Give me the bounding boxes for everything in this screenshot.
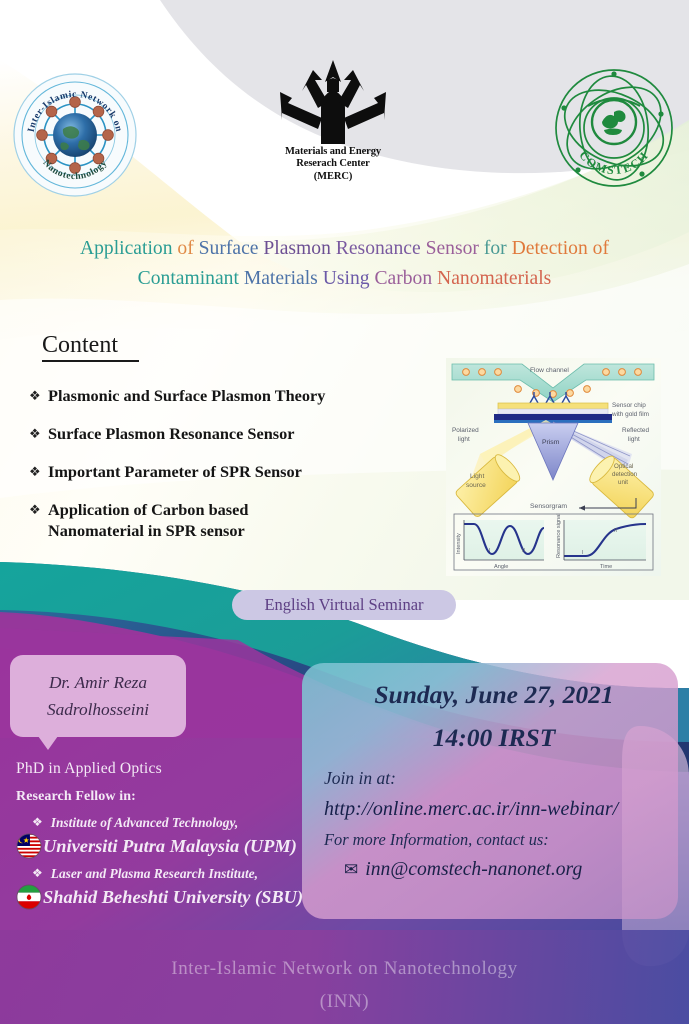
affiliation-institute: Laser and Plasma Research Institute, (51, 864, 258, 883)
seminar-poster: Inter-Islamic Network on Nanotechnology (0, 0, 689, 1024)
title-word: Plasmon (263, 238, 331, 259)
contact-email[interactable]: inn@comstech-nanonet.org (365, 856, 582, 884)
spr-label-light-source-2: source (466, 482, 486, 489)
speaker-name-line2: Sadrolhosseini (47, 696, 149, 723)
merc-caption-line2: Reserach Center (258, 158, 408, 170)
title-word: Contaminant (138, 268, 239, 289)
webinar-url[interactable]: http://online.merc.ac.ir/inn-webinar/ (324, 793, 664, 825)
spr-marker-2: II (522, 548, 525, 554)
speaker-name-line1: Dr. Amir Reza (49, 669, 147, 696)
affiliation-institute: Institute of Advanced Technology, (51, 813, 238, 832)
diamond-bullet-icon: ❖ (26, 385, 48, 407)
spr-axis-resonance: Resonance signal (556, 514, 562, 558)
spr-label-optical-1: Optical (614, 463, 633, 470)
merc-caption-line1: Materials and Energy (258, 146, 408, 158)
list-item-label: Important Parameter of SPR Sensor (48, 461, 302, 482)
list-item: ❖ Application of Carbon based Nanomateri… (26, 499, 446, 541)
seminar-type-badge: English Virtual Seminar (232, 590, 456, 620)
title-word: Carbon (374, 268, 432, 289)
title-word: Resonance (336, 238, 421, 259)
spr-axis-intensity: Intensity (456, 533, 462, 554)
spr-label-polarized-1: Polarized (452, 427, 479, 434)
spr-axis-time: Time (600, 564, 612, 570)
footer-line1: Inter-Islamic Network on Nanotechnology (0, 952, 689, 985)
title-word: Using (323, 268, 370, 289)
spr-diagram: Flow channel Sensor chip with gold film … (446, 358, 661, 576)
event-info-card: Sunday, June 27, 2021 14:00 IRST Join in… (302, 663, 678, 919)
contact-label: For more Information, contact us: (324, 825, 664, 855)
list-item: ❖ Plasmonic and Surface Plasmon Theory (26, 385, 446, 407)
speaker-degree: PhD in Applied Optics (16, 758, 316, 780)
title-word: of (593, 238, 609, 259)
speech-bubble-tail (38, 736, 58, 750)
speaker-credentials: PhD in Applied Optics Research Fellow in… (16, 758, 316, 910)
affiliation-item: ❖ Laser and Plasma Research Institute, S… (16, 864, 316, 910)
comstech-logo: COMSTECH (548, 62, 680, 194)
spr-label-flow-channel: Flow channel (530, 367, 569, 374)
list-item: ❖ Surface Plasmon Resonance Sensor (26, 423, 446, 445)
inn-logo: Inter-Islamic Network on Nanotechnology (13, 73, 137, 197)
title-word: Materials (244, 268, 318, 289)
join-label: Join in at: (324, 763, 664, 793)
page-title: Application of Surface Plasmon Resonance… (8, 234, 681, 294)
merc-logo: Materials and Energy Reserach Center (ME… (258, 58, 408, 198)
page-title-line1: Application of Surface Plasmon Resonance… (8, 234, 681, 264)
list-item-label: Surface Plasmon Resonance Sensor (48, 423, 294, 444)
footer: Inter-Islamic Network on Nanotechnology … (0, 952, 689, 1018)
content-list: ❖ Plasmonic and Surface Plasmon Theory ❖… (26, 385, 446, 557)
affiliation-org: Universiti Putra Malaysia (UPM) (43, 834, 297, 858)
event-time: 14:00 IRST (324, 717, 664, 759)
diamond-bullet-icon: ❖ (32, 813, 43, 832)
diamond-bullet-icon: ❖ (26, 423, 48, 445)
iran-flag-icon (16, 884, 42, 910)
spr-label-optical-2: detection (612, 471, 638, 478)
diamond-bullet-icon: ❖ (26, 499, 48, 521)
spr-label-sensor-chip-1: Sensor chip (612, 402, 646, 409)
footer-line2: (INN) (0, 985, 689, 1018)
title-word: for (484, 238, 507, 259)
title-word: Nanomaterials (437, 268, 551, 289)
spr-label-sensor-chip-2: with gold film (611, 411, 649, 418)
merc-mark-icon (258, 58, 408, 144)
merc-caption-line3: (MERC) (258, 171, 408, 183)
malaysia-flag-icon (16, 833, 42, 859)
event-date: Sunday, June 27, 2021 (324, 673, 664, 717)
affiliation-item: ❖ Institute of Advanced Technology, (16, 813, 316, 859)
diamond-bullet-icon: ❖ (26, 461, 48, 483)
title-word: Detection (512, 238, 588, 259)
spr-marker-1: I (489, 548, 490, 554)
affiliation-org: Shahid Beheshti University (SBU) (43, 885, 303, 909)
spr-label-optical-3: unit (618, 479, 628, 486)
list-item-label: Plasmonic and Surface Plasmon Theory (48, 385, 325, 406)
page-title-line2: Contaminant Materials Using Carbon Nanom… (8, 264, 681, 294)
list-item: ❖ Important Parameter of SPR Sensor (26, 461, 446, 483)
spr-label-polarized-2: light (458, 436, 470, 443)
spr-label-sensorgram: Sensorgram (530, 503, 567, 510)
title-word: Application (80, 238, 173, 259)
spr-label-reflected-1: Reflected (622, 427, 649, 434)
spr-marker-2b: II (614, 528, 617, 534)
seminar-type-label: English Virtual Seminar (264, 595, 423, 615)
spr-marker-1b: I (582, 550, 583, 556)
spr-label-prism: Prism (542, 439, 560, 446)
speaker-fellow-label: Research Fellow in: (16, 786, 316, 808)
list-item-label: Application of Carbon based Nanomaterial… (48, 499, 248, 541)
speaker-name-bubble: Dr. Amir Reza Sadrolhosseini (10, 655, 186, 737)
spr-axis-angle: Angle (494, 564, 508, 570)
title-word: of (177, 238, 193, 259)
title-word: Sensor (426, 238, 479, 259)
spr-label-reflected-2: light (628, 436, 640, 443)
content-heading: Content (42, 332, 118, 361)
content-heading-underline (42, 360, 139, 362)
diamond-bullet-icon: ❖ (32, 864, 43, 883)
spr-label-light-source-1: Light (470, 473, 484, 480)
envelope-icon: ✉ (344, 860, 358, 880)
contact-email-row[interactable]: ✉ inn@comstech-nanonet.org (324, 856, 664, 884)
title-word: Surface (199, 238, 259, 259)
